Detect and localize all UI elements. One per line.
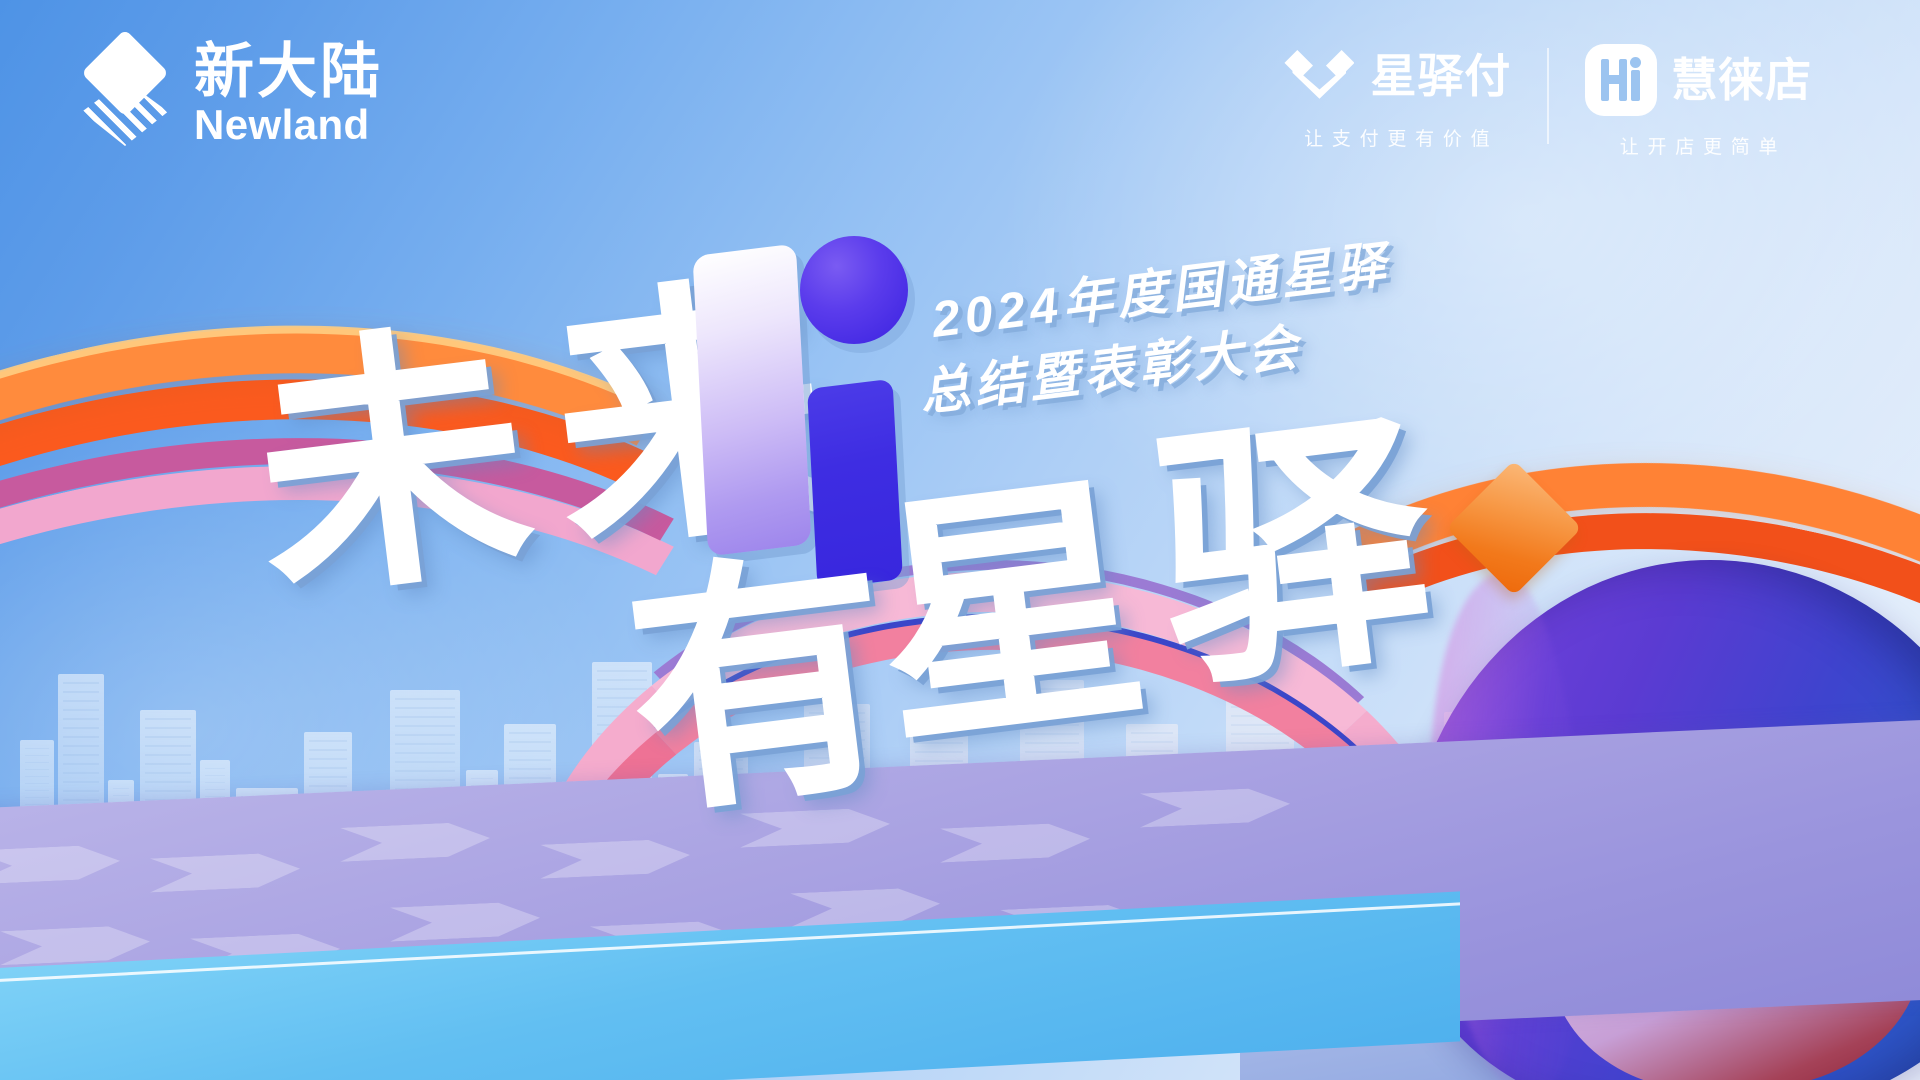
- newland-name-cn: 新大陆: [194, 42, 383, 102]
- brand-xingyifu[interactable]: 星驿付 让支付更有价值: [1246, 44, 1547, 151]
- newland-name-en: Newland: [194, 104, 383, 146]
- brand-huilaidian[interactable]: 慧徕店 让开店更简单: [1549, 44, 1848, 159]
- newland-wordmark: 新大陆 Newland: [194, 42, 383, 146]
- event-banner: 未 来 有 星 驿 2024年度国通星驿 总结暨表彰大会 新大陆 Newland: [0, 0, 1920, 1080]
- event-title-line2: 总结暨表彰大会: [915, 307, 1306, 425]
- partner-logo-group: 星驿付 让支付更有价值 慧徕店 让开店更简单: [1246, 44, 1848, 159]
- event-title-line1: 2024年度国通星驿: [927, 224, 1394, 352]
- huilaidian-tagline: 让开店更简单: [1611, 132, 1786, 159]
- newland-diamond-stripes-icon: [78, 40, 172, 148]
- huilaidian-h-square-icon: [1585, 44, 1657, 116]
- xingyifu-name: 星驿付: [1370, 53, 1511, 99]
- xingyifu-heart-ribbon-icon: [1282, 44, 1356, 108]
- xingyifu-tagline: 让支付更有价值: [1295, 124, 1498, 151]
- accent-i-dot-icon: [800, 236, 908, 344]
- huilaidian-name: 慧徕店: [1671, 57, 1812, 103]
- newland-logo-lockup[interactable]: 新大陆 Newland: [78, 40, 383, 148]
